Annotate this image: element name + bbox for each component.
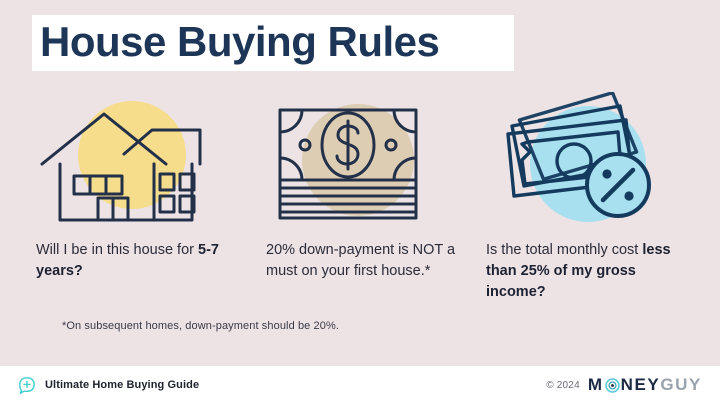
footer-guide-label: Ultimate Home Buying Guide <box>45 379 199 391</box>
percent-badge <box>587 154 649 216</box>
rule-column-2: 20% down-payment is NOT a must on your f… <box>266 92 466 282</box>
rule-caption-1-lead: Will I be in this house for <box>36 242 198 258</box>
target-o-icon <box>605 378 620 393</box>
dollar-bill-stack-icon-wrap <box>266 92 466 227</box>
footnote: *On subsequent homes, down-payment shoul… <box>62 320 339 332</box>
rule-caption-3: Is the total monthly cost less than 25% … <box>486 240 686 303</box>
brand-part-1: M <box>588 375 604 395</box>
cash-percent-icon <box>486 92 686 227</box>
cash-percent-icon-wrap <box>486 92 686 227</box>
brand-part-2: NEY <box>621 375 661 395</box>
footer-bar: Ultimate Home Buying Guide © 2024 M NEY … <box>0 366 720 404</box>
copyright-text: © 2024 <box>546 380 580 391</box>
house-icon <box>36 92 236 227</box>
rule-caption-1: Will I be in this house for 5-7 years? <box>36 240 236 282</box>
infographic-canvas: House Buying Rules <box>0 0 720 404</box>
dollar-bill-stack-icon <box>266 92 466 227</box>
footer-brand: © 2024 M NEY GUY <box>546 375 702 395</box>
rule-caption-2-lead: 20% down-payment is NOT a must on your f… <box>266 242 455 279</box>
house-icon-wrap <box>36 92 236 227</box>
rule-column-3: Is the total monthly cost less than 25% … <box>486 92 686 303</box>
brand-part-3: GUY <box>660 375 702 395</box>
plus-speech-bubble-icon <box>18 376 36 394</box>
moneyguy-logo[interactable]: M NEY GUY <box>588 375 702 395</box>
rule-column-1: Will I be in this house for 5-7 years? <box>36 92 236 282</box>
rule-caption-3-lead: Is the total monthly cost <box>486 242 642 258</box>
rule-caption-2: 20% down-payment is NOT a must on your f… <box>266 240 466 282</box>
footer-guide-link[interactable]: Ultimate Home Buying Guide <box>18 376 199 394</box>
page-title: House Buying Rules <box>40 14 560 70</box>
